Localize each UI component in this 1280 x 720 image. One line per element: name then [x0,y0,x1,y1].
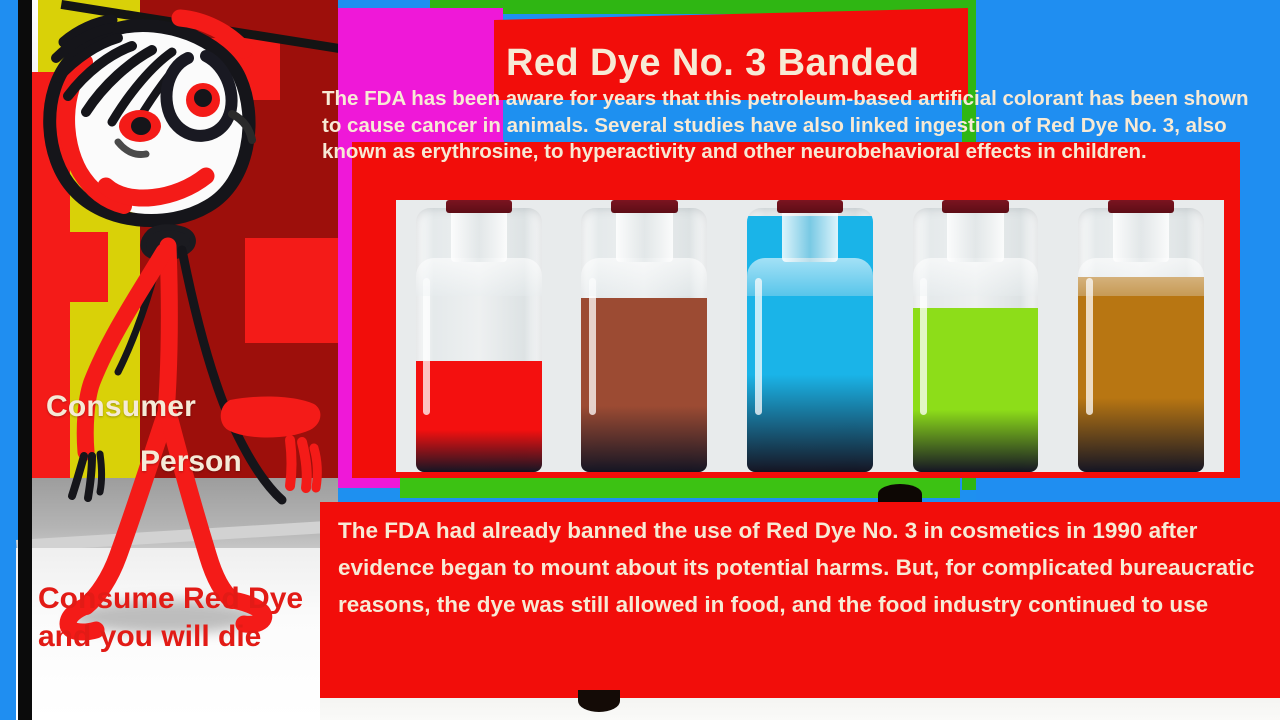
black-blob-lower [578,690,620,712]
green-dye-bottle [893,200,1059,472]
bottom-paragraph: The FDA had already banned the use of Re… [338,512,1268,623]
blue-dye-bottle [727,200,893,472]
dye-bottles-photo [396,200,1224,472]
black-blob-upper [878,484,922,504]
brown-dye-bottle [562,200,728,472]
page-title: Red Dye No. 3 Banded [506,42,1106,85]
amber-dye-bottle [1058,200,1224,472]
red-dye-bottle [396,200,562,472]
bottom-white-strip [320,698,1280,720]
figure-warning-text: Consume Red Dye and you will die [38,580,308,656]
figure-label-person: Person [140,445,242,479]
figure-label-consumer: Consumer [46,390,196,424]
illustration-scene: Consumer Person Consume Red Dye and you … [0,0,338,720]
intro-paragraph: The FDA has been aware for years that th… [322,86,1262,166]
green-bottom-band [400,476,960,498]
slide-canvas: Consumer Person Consume Red Dye and you … [0,0,1280,720]
